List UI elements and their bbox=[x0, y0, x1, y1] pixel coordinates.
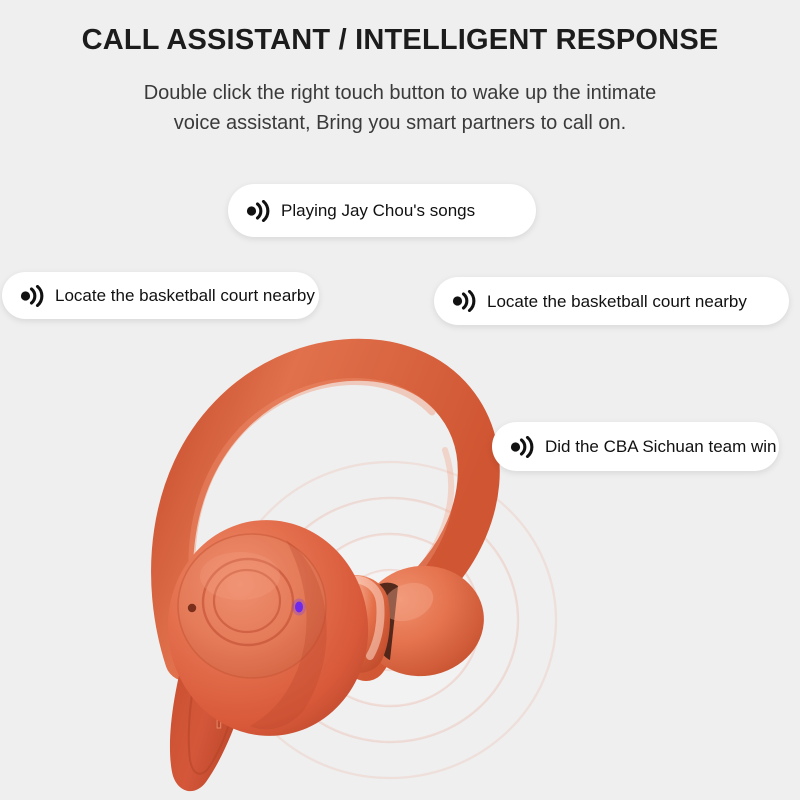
voice-command-bubble-playing[interactable]: Playing Jay Chou's songs bbox=[228, 184, 536, 237]
page-subtitle-line-1: Double click the right touch button to w… bbox=[0, 82, 800, 105]
voice-command-label: Locate the basketball court nearby bbox=[55, 287, 315, 304]
voice-command-label: Did the CBA Sichuan team win bbox=[545, 438, 777, 455]
voice-command-label: Locate the basketball court nearby bbox=[487, 293, 747, 310]
microphone-hole bbox=[188, 604, 196, 612]
voice-command-bubble-cba[interactable]: Did the CBA Sichuan team win bbox=[492, 422, 779, 471]
sound-wave-icon bbox=[510, 436, 536, 458]
voice-command-bubble-locate-right[interactable]: Locate the basketball court nearby bbox=[434, 277, 789, 325]
sound-wave-icon bbox=[452, 290, 478, 312]
voice-command-bubble-locate-left[interactable]: Locate the basketball court nearby bbox=[2, 272, 319, 319]
page-subtitle-line-2: voice assistant, Bring you smart partner… bbox=[0, 112, 800, 135]
sound-wave-icon bbox=[246, 200, 272, 222]
page-title: CALL ASSISTANT / INTELLIGENT RESPONSE bbox=[0, 24, 800, 57]
earbud-illustration: R bbox=[90, 330, 710, 800]
sound-wave-icon bbox=[20, 285, 46, 307]
product-feature-banner: CALL ASSISTANT / INTELLIGENT RESPONSE Do… bbox=[0, 0, 800, 800]
voice-command-label: Playing Jay Chou's songs bbox=[281, 202, 475, 219]
